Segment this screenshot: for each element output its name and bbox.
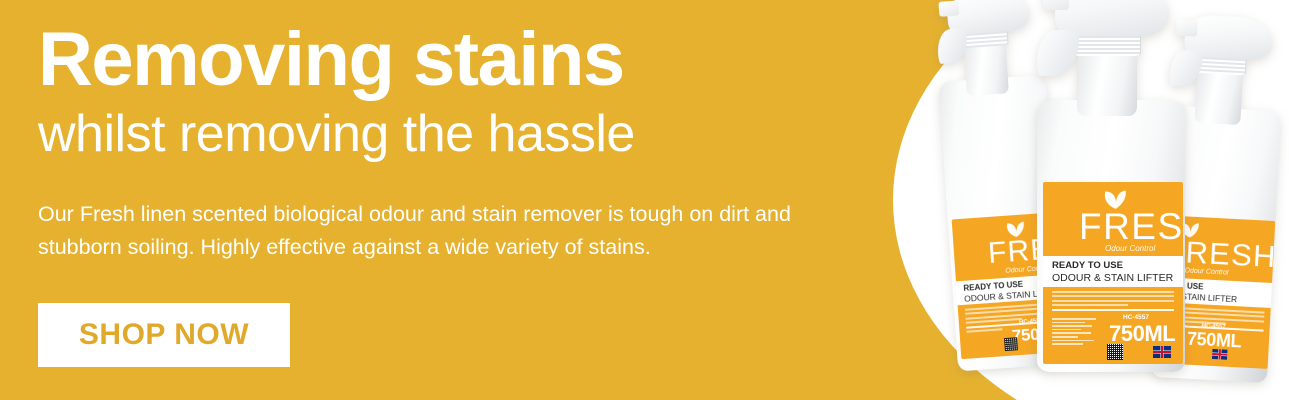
qr-code-icon <box>1107 344 1123 360</box>
usage-line: READY TO USE <box>1052 260 1123 271</box>
product-code: HC-4557 <box>1123 314 1149 321</box>
bottle-neck <box>963 41 1009 96</box>
union-jack-flag-icon <box>1153 346 1171 358</box>
product-bottle-center: FRESH Odour Control READY TO USE ODOUR &… <box>1037 100 1185 372</box>
spray-nozzle <box>1043 0 1069 10</box>
product-label: FRESH Odour Control READY TO USE ODOUR &… <box>1043 182 1183 364</box>
spray-nozzle <box>1176 20 1198 37</box>
union-jack-flag-icon <box>1212 349 1228 360</box>
bottle-neck <box>1077 52 1137 116</box>
spray-nozzle <box>938 1 959 17</box>
page-title: Removing stains <box>38 22 624 98</box>
bottle-neck <box>1194 69 1243 125</box>
page-subtitle: whilst removing the hassle <box>38 108 635 160</box>
brand-tagline: Odour Control <box>1184 267 1228 276</box>
shop-now-label: SHOP NOW <box>79 318 249 352</box>
shop-now-button[interactable]: SHOP NOW <box>38 303 290 367</box>
brand-name: FRESH <box>1079 208 1183 245</box>
body-copy: Our Fresh linen scented biological odour… <box>38 198 868 263</box>
promotional-banner: FRESH Odour Control READY TO USE ODOUR &… <box>0 0 1289 400</box>
label-description-text <box>1043 291 1183 313</box>
product-type: ODOUR & STAIN LIFTER <box>1052 272 1173 284</box>
brand-tagline: Odour Control <box>1105 244 1155 253</box>
label-white-band: READY TO USE ODOUR & STAIN LIFTER <box>1043 256 1183 287</box>
qr-code-icon <box>1004 337 1018 351</box>
label-directions-text <box>1052 318 1096 347</box>
